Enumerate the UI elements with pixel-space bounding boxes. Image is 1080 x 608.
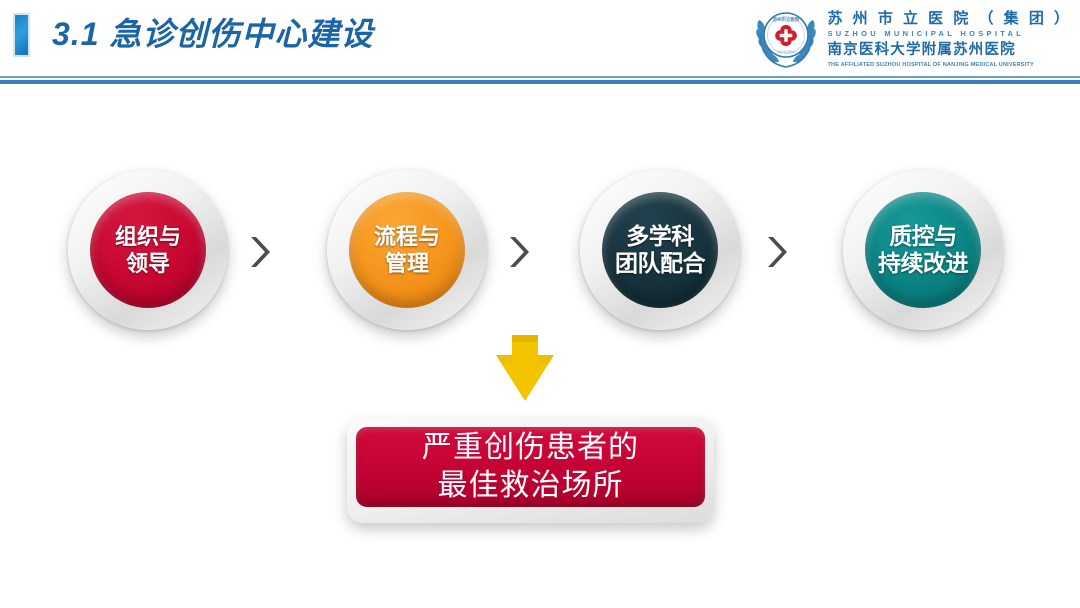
page-title: 3.1 急诊创伤中心建设 bbox=[52, 8, 373, 60]
chevron-right-icon bbox=[243, 232, 273, 272]
hospital-logo: 苏州市立医院 MUNICIPAL 苏 州 市 立 医 院 （ 集 团 ） SUZ… bbox=[753, 6, 1072, 72]
title-accent-bar bbox=[13, 13, 30, 57]
process-flow: 组织与 领导 流程与 管理 多学科 团队配合 质控与 持续改进 bbox=[0, 160, 1080, 350]
outcome-banner-text: 严重创伤患者的 最佳救治场所 bbox=[422, 429, 639, 505]
arrow-down-icon bbox=[492, 333, 558, 403]
svg-text:苏州市立医院: 苏州市立医院 bbox=[773, 16, 800, 23]
chevron-right-icon bbox=[760, 232, 790, 272]
outcome-banner: 严重创伤患者的 最佳救治场所 bbox=[347, 418, 714, 523]
node-disc: 多学科 团队配合 bbox=[602, 192, 718, 308]
flow-node-organization-leadership[interactable]: 组织与 领导 bbox=[68, 170, 228, 330]
outcome-banner-inner: 严重创伤患者的 最佳救治场所 bbox=[356, 427, 705, 507]
slide-header: 3.1 急诊创伤中心建设 苏州市立医院 bbox=[0, 0, 1080, 90]
node-label: 组织与 领导 bbox=[115, 223, 181, 277]
node-disc: 流程与 管理 bbox=[349, 192, 465, 308]
logo-wordmark: 苏 州 市 立 医 院 （ 集 团 ） SUZHOU MUNICIPAL HOS… bbox=[827, 9, 1072, 69]
logo-line-en-1: SUZHOU MUNICIPAL HOSPITAL bbox=[827, 29, 1072, 38]
node-label: 质控与 持续改进 bbox=[878, 223, 968, 277]
logo-line-cn-2: 南京医科大学附属苏州医院 bbox=[827, 42, 1072, 59]
node-disc: 质控与 持续改进 bbox=[865, 192, 981, 308]
flow-node-process-management[interactable]: 流程与 管理 bbox=[327, 170, 487, 330]
svg-text:MUNICIPAL: MUNICIPAL bbox=[778, 50, 796, 54]
logo-line-en-2: THE AFFILIATED SUZHOU HOSPITAL OF NANJIN… bbox=[827, 61, 1072, 69]
chevron-right-icon bbox=[502, 232, 532, 272]
node-label: 流程与 管理 bbox=[374, 223, 440, 277]
header-divider-thin bbox=[0, 76, 1080, 78]
node-disc: 组织与 领导 bbox=[90, 192, 206, 308]
logo-line-cn-1: 苏 州 市 立 医 院 （ 集 团 ） bbox=[827, 11, 1072, 27]
flow-node-multidisciplinary-team[interactable]: 多学科 团队配合 bbox=[580, 170, 740, 330]
hospital-wreath-emblem-icon: 苏州市立医院 MUNICIPAL bbox=[753, 6, 819, 72]
node-label: 多学科 团队配合 bbox=[615, 223, 705, 277]
flow-node-quality-control-improvement[interactable]: 质控与 持续改进 bbox=[843, 170, 1003, 330]
header-divider-thick bbox=[0, 80, 1080, 84]
